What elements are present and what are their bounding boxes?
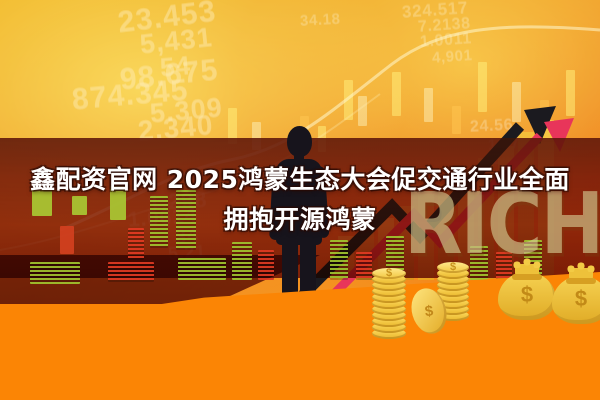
money-bag: $ — [552, 262, 600, 324]
money-bag: $ — [498, 258, 556, 320]
dollar-sign-icon: $ — [437, 262, 469, 273]
dollar-sign-icon: $ — [552, 286, 600, 312]
headline-line-1: 鑫配资官网 2025鸿蒙生态大会促交通行业全面 — [30, 165, 570, 194]
page-title: 鑫配资官网 2025鸿蒙生态大会促交通行业全面 拥抱开源鸿蒙 — [0, 160, 600, 240]
coin-stack: $ — [372, 268, 406, 342]
promo-banner: 23.4535,4315498.675874.3455.3092.340324.… — [0, 0, 600, 400]
headline-line-2: 拥抱开源鸿蒙 — [14, 200, 586, 240]
dollar-sign-icon: $ — [498, 282, 556, 308]
dollar-sign-icon: $ — [372, 268, 406, 279]
dollar-sign-icon: $ — [410, 286, 449, 335]
